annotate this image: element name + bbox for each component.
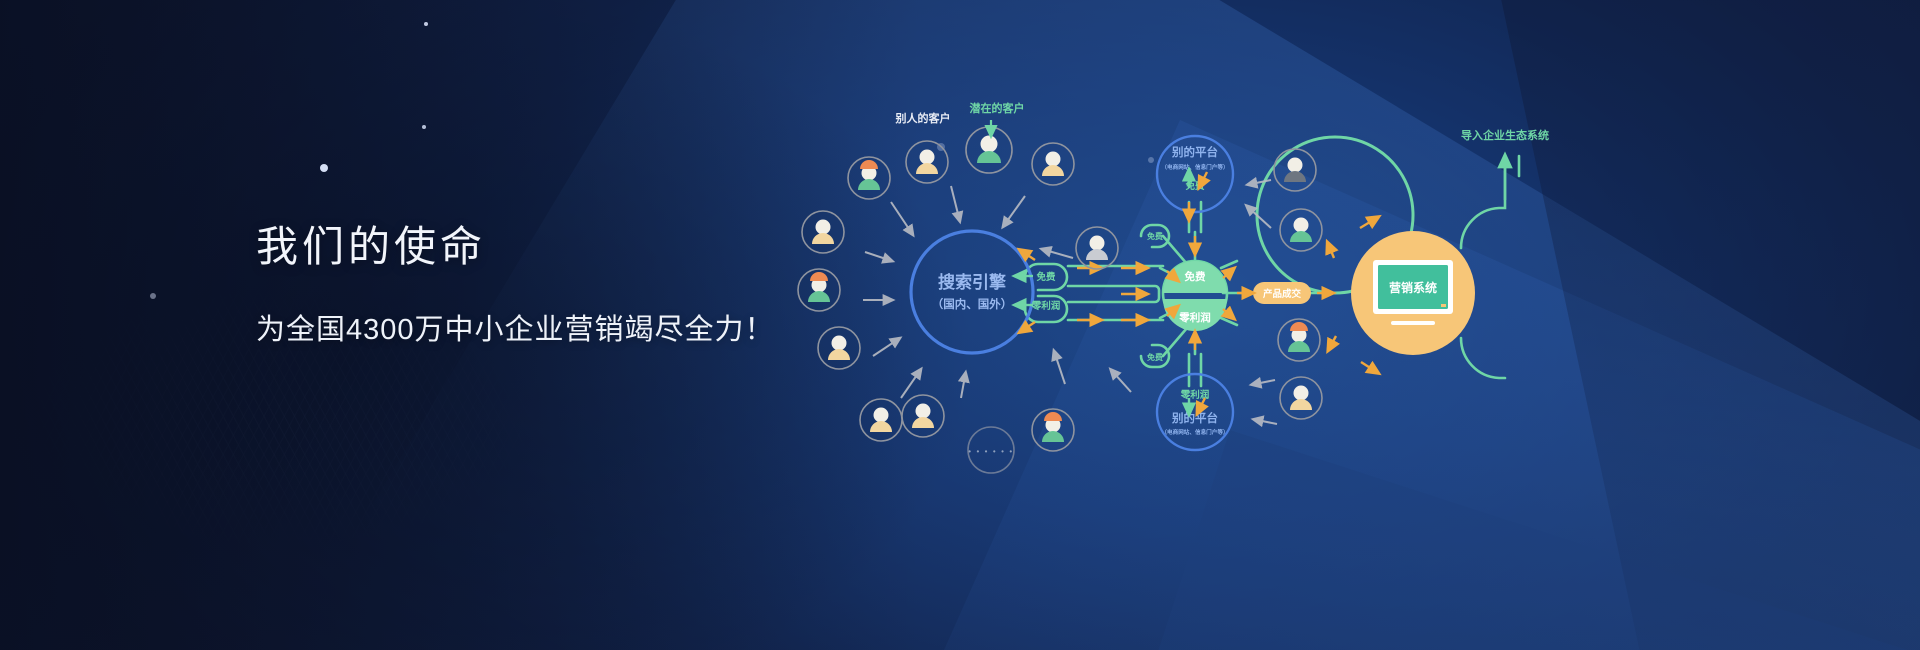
page-title: 我们的使命 — [256, 222, 775, 272]
label-potential-customers: 潜在的客户 — [970, 101, 1025, 115]
platform-top-subtitle: （电商网站、信息门户等） — [1161, 163, 1228, 171]
central-hub: 免费 零利润 — [1163, 261, 1227, 331]
avatar — [1032, 143, 1074, 185]
avatar — [1280, 377, 1322, 419]
flow-tag-free-top: 免费 — [1147, 231, 1163, 241]
label-import-enterprise: 导入企业生态系统 — [1461, 128, 1549, 142]
avatar — [902, 395, 944, 437]
marketing-ecosystem-diagram: 营销系统 产品成交 免费 零利润 — [905, 140, 1545, 440]
platform-top-node: 别的平台 （电商网站、信息门户等） 免费 — [1157, 136, 1233, 212]
platform-bottom-subtitle: （电商网站、信息门户等） — [1161, 428, 1228, 436]
search-engine-node: 搜索引擎 （国内、国外） — [911, 231, 1033, 353]
avatar — [906, 141, 948, 183]
system-screen-label: 营销系统 — [1389, 280, 1437, 295]
avatar — [1280, 209, 1322, 251]
search-engine-subtitle: （国内、国外） — [932, 297, 1013, 311]
flow-tag-free: 免费 — [1036, 271, 1056, 283]
hub-top-label: 免费 — [1185, 270, 1207, 283]
deal-pill-label: 产品成交 — [1263, 288, 1302, 300]
avatar-dots-label: • • • • • • — [968, 447, 1014, 456]
hero-copy: 我们的使命 为全国4300万中小企业营销竭尽全力！ — [256, 222, 775, 348]
sparkle-dot — [150, 293, 156, 299]
search-engine-title: 搜索引擎 — [938, 272, 1007, 292]
hub-bottom-label: 零利润 — [1178, 311, 1211, 324]
flow-tag-zero-profit: 零利润 — [1031, 300, 1061, 312]
platform-bottom-node: 零利润 别的平台 （电商网站、信息门户等） — [1157, 374, 1233, 450]
platform-bottom-title: 别的平台 — [1171, 411, 1218, 425]
deal-pill: 产品成交 — [1253, 282, 1311, 304]
avatar — [1274, 149, 1316, 191]
platform-top-title: 别的平台 — [1171, 145, 1218, 159]
avatar — [1076, 227, 1118, 269]
avatar — [1278, 319, 1320, 361]
hero-banner: 我们的使命 为全国4300万中小企业营销竭尽全力！ — [0, 0, 1920, 650]
page-subtitle: 为全国4300万中小企业营销竭尽全力！ — [256, 306, 775, 348]
flow-tag-free-bottom: 免费 — [1147, 352, 1163, 362]
label-others-customers: 别人的客户 — [895, 111, 951, 125]
